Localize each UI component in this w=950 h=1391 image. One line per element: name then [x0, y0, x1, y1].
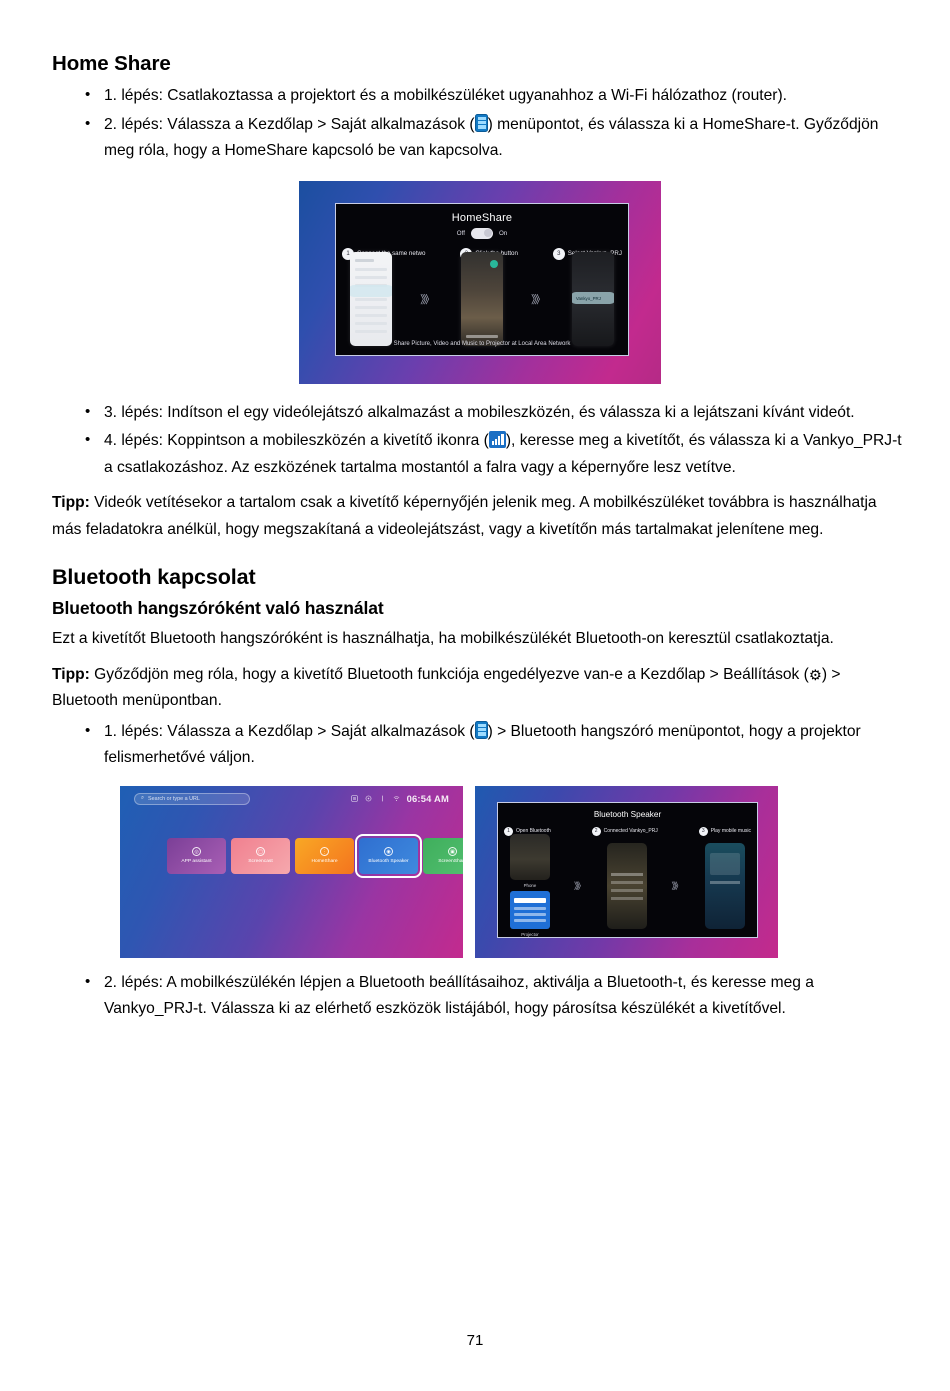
bt-step-label-2: Connected Vankyo_PRJ — [604, 828, 658, 834]
search-placeholder: Search or type a URL — [148, 796, 200, 802]
search-input[interactable]: ⌕ Search or type a URL — [134, 793, 250, 805]
tile-label-homeshare: HomeShare — [311, 859, 337, 864]
my-apps-phone-icon — [475, 114, 488, 132]
cast-icon: ▢ — [256, 847, 265, 856]
tile-label-bluetooth-speaker: Bluetooth Speaker — [368, 859, 408, 864]
figure-bluetooth-speaker: Bluetooth Speaker 1 Open Bluetooth 2 Con… — [475, 786, 778, 958]
tile-label-app-assistant: APP assistant — [181, 859, 211, 864]
phone-mockup-paired-list — [607, 843, 647, 929]
tile-label-screenshare: ScreenShare — [438, 859, 463, 864]
home-status-bar: ⌕ Search or type a URL 06:54 AM — [120, 786, 463, 812]
screen-icon: ▣ — [448, 847, 457, 856]
bt-step-badge-3: 3 — [699, 827, 708, 836]
tile-homeshare[interactable]: ⋮ HomeShare — [295, 838, 354, 874]
list-item-step-1: 1. lépés: Csatlakoztassa a projektort és… — [52, 83, 908, 110]
bt-arrow-1: 》》 — [574, 879, 584, 892]
page-number: 71 — [0, 1332, 950, 1349]
page-title-home-share: Home Share — [52, 52, 908, 76]
list-item-step-2: 2. lépés: Válassza a Kezdőlap > Saját al… — [52, 112, 908, 165]
figure-home-screen: ⌕ Search or type a URL 06:54 AM ◎ APP as… — [120, 786, 463, 958]
homeshare-footer-caption: Share Picture, Video and Music to Projec… — [336, 341, 628, 347]
arrow-2: 》》 — [531, 291, 544, 307]
tip-text-part1: Győződjön meg róla, hogy a kivetítő Blue… — [90, 666, 809, 683]
usb-icon — [379, 795, 386, 802]
tile-screencast[interactable]: ▢ Screencast — [231, 838, 290, 874]
tip-paragraph-homeshare: Tipp: Videók vetítésekor a tartalom csak… — [52, 490, 908, 543]
clock-time: 06:54 AM — [407, 793, 449, 804]
highlighted-network-row — [350, 285, 392, 297]
list-item-bt-step-2: 2. lépés: A mobilkészülékén lépjen a Blu… — [52, 970, 908, 1023]
toggle-on-label: On — [499, 230, 507, 237]
wifi-icon — [393, 795, 400, 802]
bt-step-badge-2: 2 — [592, 827, 601, 836]
step-badge-3: 3 — [553, 248, 565, 260]
gear-icon[interactable] — [365, 795, 372, 802]
subsection-title-bluetooth-speaker: Bluetooth hangszóróként való használat — [52, 598, 908, 619]
document-page: Home Share 1. lépés: Csatlakoztassa a pr… — [0, 0, 950, 1391]
home-share-steps-list-2: 3. lépés: Indítson el egy videólejátszó … — [52, 400, 908, 482]
step-2-text-part1: 2. lépés: Válassza a Kezdőlap > Saját al… — [104, 116, 475, 133]
tile-label-screencast: Screencast — [248, 859, 272, 864]
bt-column-1: Phone Projector — [510, 834, 550, 937]
bt-step-2-text: 2. lépés: A mobilkészülékén lépjen a Blu… — [104, 974, 814, 1018]
figure-row-bluetooth: ⌕ Search or type a URL 06:54 AM ◎ APP as… — [52, 786, 908, 958]
app-tile-row: ◎ APP assistant ▢ Screencast ⋮ HomeShare… — [167, 838, 463, 874]
homeshare-phone-row: 》》 》》 Vankyo_PRJ — [336, 266, 628, 333]
bluetooth-phone-row: Phone Projector 》》 — [498, 843, 757, 929]
home-share-steps-list: 1. lépés: Csatlakoztassa a projektort és… — [52, 83, 908, 165]
figure-homeshare: HomeShare Off On 1 Connect the same netw… — [299, 181, 661, 384]
phone-mockup-device-select: Vankyo_PRJ — [572, 252, 614, 346]
target-icon: ◎ — [192, 847, 201, 856]
bluetooth-icon: ◉ — [384, 847, 393, 856]
share-icon: ⋮ — [320, 847, 329, 856]
homeshare-title: HomeShare — [336, 212, 628, 224]
bt-step-3: 3 Play mobile music — [699, 827, 751, 836]
list-icon[interactable] — [351, 795, 358, 802]
step-1-text: 1. lépés: Csatlakoztassa a projektort és… — [104, 87, 787, 104]
tip-label-bluetooth: Tipp: — [52, 666, 90, 683]
bluetooth-screen: Bluetooth Speaker 1 Open Bluetooth 2 Con… — [497, 802, 758, 938]
toggle-off-label: Off — [457, 230, 465, 237]
tile-app-assistant[interactable]: ◎ APP assistant — [167, 838, 226, 874]
phone-mockup-music-player — [705, 843, 745, 929]
step-3-text: 3. lépés: Indítson el egy videólejátszó … — [104, 404, 855, 421]
list-item-bt-step-1: 1. lépés: Válassza a Kezdőlap > Saját al… — [52, 719, 908, 772]
phone-mockup-settings — [510, 834, 550, 880]
caption-projector: Projector — [521, 932, 539, 937]
phone-mockup-wifi-list — [350, 252, 392, 346]
bluetooth-steps-list: 1. lépés: Válassza a Kezdőlap > Saját al… — [52, 719, 908, 772]
cast-signal-icon — [489, 431, 506, 448]
tile-bluetooth-speaker[interactable]: ◉ Bluetooth Speaker — [359, 838, 418, 874]
homeshare-screen: HomeShare Off On 1 Connect the same netw… — [335, 203, 629, 356]
tip-paragraph-bluetooth: Tipp: Győződjön meg róla, hogy a kivetít… — [52, 662, 908, 715]
tip-text: Videók vetítésekor a tartalom csak a kiv… — [52, 494, 877, 538]
bt-arrow-2: 》》 — [671, 879, 681, 892]
caption-phone: Phone — [524, 883, 537, 888]
list-item-step-3: 3. lépés: Indítson el egy videólejátszó … — [52, 400, 908, 427]
arrow-1: 》》 — [420, 291, 433, 307]
tip-label: Tipp: — [52, 494, 90, 511]
bluetooth-intro-paragraph: Ezt a kivetítőt Bluetooth hangszóróként … — [52, 626, 908, 653]
tile-screenshare[interactable]: ▣ ScreenShare — [423, 838, 463, 874]
list-item-step-4: 4. lépés: Koppintson a mobileszközén a k… — [52, 428, 908, 481]
bluetooth-steps-list-2: 2. lépés: A mobilkészülékén lépjen a Blu… — [52, 970, 908, 1023]
step-4-text-part1: 4. lépés: Koppintson a mobileszközén a k… — [104, 432, 489, 449]
search-icon: ⌕ — [141, 795, 144, 802]
bt-step-2: 2 Connected Vankyo_PRJ — [592, 827, 658, 836]
gear-icon: ⚙ — [809, 669, 822, 684]
section-title-bluetooth: Bluetooth kapcsolat — [52, 565, 908, 590]
bluetooth-figure-title: Bluetooth Speaker — [498, 810, 757, 819]
projector-panel-mockup — [510, 891, 550, 929]
my-apps-phone-icon — [475, 721, 488, 739]
bt-step-1-part1: 1. lépés: Válassza a Kezdőlap > Saját al… — [104, 723, 475, 740]
homeshare-toggle-switch[interactable] — [471, 228, 493, 239]
phone-mockup-video-player — [461, 252, 503, 346]
homeshare-toggle-row: Off On — [336, 228, 628, 239]
bt-step-label-3: Play mobile music — [711, 828, 751, 834]
device-pill[interactable]: Vankyo_PRJ — [572, 292, 614, 304]
status-icons-group: 06:54 AM — [351, 793, 449, 804]
